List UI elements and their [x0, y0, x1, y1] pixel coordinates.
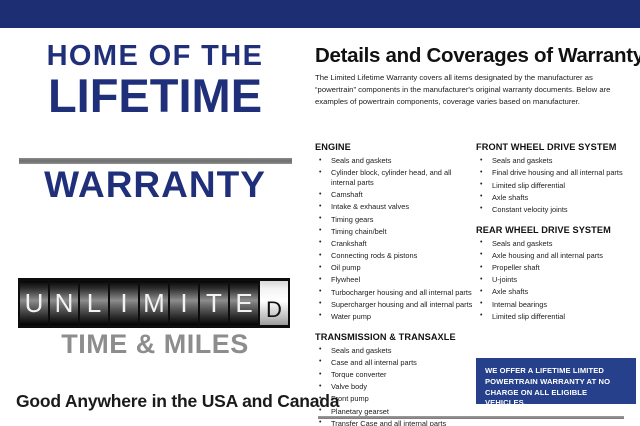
- odometer-cell: I: [170, 281, 198, 325]
- coverage-item: Propeller shaft: [476, 263, 636, 273]
- good-anywhere-label: Good Anywhere in the USA and Canada: [16, 391, 298, 412]
- odometer-cell: L: [80, 281, 108, 325]
- headline-line-1: HOME OF THE: [16, 42, 294, 71]
- coverage-section-title: FRONT WHEEL DRIVE SYSTEM: [476, 143, 636, 152]
- coverage-item: Seals and gaskets: [476, 156, 636, 166]
- coverage-item: Flywheel: [315, 275, 473, 285]
- coverage-item: Intake & exhaust valves: [315, 202, 473, 212]
- coverage-item: Cylinder block, cylinder head, and all i…: [315, 168, 473, 188]
- odometer-cell: E: [230, 281, 258, 325]
- coverage-item: Timing chain/belt: [315, 227, 473, 237]
- headline-line-3: WARRANTY: [14, 166, 296, 203]
- coverage-section-title: TRANSMISSION & TRANSAXLE: [315, 333, 473, 342]
- coverage-item: Connecting rods & pistons: [315, 251, 473, 261]
- coverage-item-list: Seals and gasketsAxle housing and all in…: [476, 239, 636, 322]
- coverage-section: ENGINESeals and gasketsCylinder block, c…: [315, 143, 473, 322]
- coverage-item-list: Seals and gasketsFinal drive housing and…: [476, 156, 636, 214]
- intro-paragraph: The Limited Lifetime Warranty covers all…: [315, 72, 635, 108]
- odometer-cell: T: [200, 281, 228, 325]
- coverage-item: Camshaft: [315, 190, 473, 200]
- headline-line-2: LIFETIME: [14, 72, 296, 119]
- page-title: Details and Coverages of Warranty: [315, 46, 635, 67]
- right-details-panel: Details and Coverages of Warranty The Li…: [306, 28, 640, 426]
- coverage-item: Axle shafts: [476, 287, 636, 297]
- offer-callout-text: WE OFFER A LIFETIME LIMITED POWERTRAIN W…: [485, 366, 627, 409]
- coverage-item: Front pump: [315, 394, 473, 404]
- coverage-item: Torque converter: [315, 370, 473, 380]
- odometer-cell: N: [50, 281, 78, 325]
- offer-callout-box: WE OFFER A LIFETIME LIMITED POWERTRAIN W…: [476, 358, 636, 404]
- odometer-graphic: UNLIMITED: [18, 278, 290, 328]
- coverage-section-title: ENGINE: [315, 143, 473, 152]
- coverage-item: Limited slip differential: [476, 181, 636, 191]
- odometer-cell: I: [110, 281, 138, 325]
- coverage-item: Crankshaft: [315, 239, 473, 249]
- coverage-item: Planetary gearset: [315, 407, 473, 417]
- coverage-item: U-joints: [476, 275, 636, 285]
- coverage-item-list: Seals and gasketsCylinder block, cylinde…: [315, 156, 473, 321]
- odometer-cell: D: [260, 281, 288, 325]
- coverage-item: Oil pump: [315, 263, 473, 273]
- coverage-item: Seals and gaskets: [315, 156, 473, 166]
- coverage-item: Constant velocity joints: [476, 205, 636, 215]
- odometer-cell: M: [140, 281, 168, 325]
- coverage-section-title: REAR WHEEL DRIVE SYSTEM: [476, 226, 636, 235]
- coverage-section: REAR WHEEL DRIVE SYSTEMSeals and gaskets…: [476, 226, 636, 322]
- coverage-column-right: FRONT WHEEL DRIVE SYSTEMSeals and gasket…: [476, 143, 636, 333]
- coverage-section: TRANSMISSION & TRANSAXLESeals and gasket…: [315, 333, 473, 426]
- top-navy-band: [0, 0, 640, 28]
- coverage-item: Internal bearings: [476, 300, 636, 310]
- coverage-item: Limited slip differential: [476, 312, 636, 322]
- coverage-item: Seals and gaskets: [315, 346, 473, 356]
- coverage-item: Water pump: [315, 312, 473, 322]
- coverage-item: Supercharger housing and all internal pa…: [315, 300, 473, 310]
- coverage-item: Valve body: [315, 382, 473, 392]
- coverage-item-list: Seals and gasketsCase and all internal p…: [315, 346, 473, 426]
- coverage-column-left: ENGINESeals and gasketsCylinder block, c…: [315, 143, 473, 426]
- footer-divider-rule: [318, 416, 624, 419]
- coverage-item: Axle housing and all internal parts: [476, 251, 636, 261]
- odometer-cell: U: [20, 281, 48, 325]
- coverage-item: Seals and gaskets: [476, 239, 636, 249]
- coverage-item: Final drive housing and all internal par…: [476, 168, 636, 178]
- coverage-item: Turbocharger housing and all internal pa…: [315, 288, 473, 298]
- left-branding-panel: HOME OF THE LIFETIME WARRANTY UNLIMITED …: [0, 28, 306, 426]
- coverage-item: Axle shafts: [476, 193, 636, 203]
- coverage-item: Timing gears: [315, 215, 473, 225]
- coverage-item: Case and all internal parts: [315, 358, 473, 368]
- warranty-flyer: HOME OF THE LIFETIME WARRANTY UNLIMITED …: [0, 0, 640, 426]
- coverage-section: FRONT WHEEL DRIVE SYSTEMSeals and gasket…: [476, 143, 636, 215]
- time-and-miles-label: TIME & MILES: [14, 331, 296, 358]
